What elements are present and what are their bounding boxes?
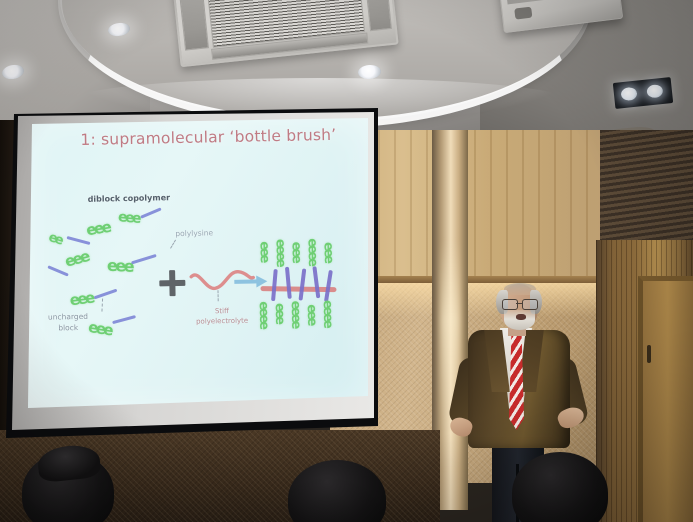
brush-arm: eeee	[295, 301, 296, 327]
spot-light-1	[620, 87, 637, 102]
ac-vent-left	[178, 0, 209, 51]
glasses-bridge	[516, 303, 522, 304]
copolymer-coil: eee	[65, 256, 87, 262]
eyeglasses-icon	[502, 299, 537, 308]
copolymer-tail	[112, 315, 136, 324]
charged-block	[324, 270, 333, 302]
presentation-slide: 1: supramolecular ‘bottle brush’ diblock…	[28, 118, 368, 408]
charged-block	[299, 268, 307, 300]
label-diblock-copolymer: diblock copolymer	[88, 193, 171, 204]
copolymer-coil: eee	[88, 327, 111, 331]
ac-vent-right	[363, 0, 392, 31]
presenter-striped-tie	[509, 334, 524, 430]
pointer-stiff-polyelectrolyte	[217, 290, 218, 301]
copolymer-coil: eee	[118, 217, 139, 219]
bottle-brush-complex: eee eeee eee eeee eee eeee eee eeee eee …	[255, 238, 349, 360]
copolymer-coil: eee	[70, 298, 93, 301]
copolymer-tail	[140, 207, 161, 218]
wall-slat-band	[600, 130, 693, 250]
charged-block	[312, 266, 320, 298]
glasses-lens-left	[502, 299, 518, 310]
plus-sign-icon	[159, 270, 186, 297]
brush-arm: eeee	[263, 301, 264, 327]
presenter-mouth	[516, 314, 526, 320]
slide-content: 1: supramolecular ‘bottle brush’ diblock…	[28, 111, 374, 408]
copolymer-tail	[94, 289, 118, 300]
door[interactable]	[638, 276, 693, 522]
label-uncharged-block-line1: uncharged	[40, 311, 96, 323]
copolymer-coil: ee	[49, 238, 61, 242]
copolymer-coil: eee	[86, 227, 109, 231]
projector-lens	[514, 7, 532, 20]
label-stiff-polyelectrolyte: Stiff polyelectrolyte	[191, 306, 253, 327]
spot-light-2	[646, 84, 663, 99]
brush-arm: eeee	[279, 239, 280, 265]
slide-title: 1: supramolecular ‘bottle brush’	[80, 126, 336, 149]
door-handle-icon[interactable]	[647, 345, 651, 363]
lecture-room-photo: 1: supramolecular ‘bottle brush’ diblock…	[0, 0, 693, 522]
copolymer-tail	[131, 254, 157, 265]
pointer-polylysine	[170, 240, 176, 249]
presenter-beard	[504, 310, 535, 330]
glasses-lens-right	[522, 299, 538, 310]
projector-body-stripe	[507, 0, 611, 4]
charged-block	[285, 267, 292, 299]
label-stiff-line2: polyelectrolyte	[191, 316, 253, 327]
arrow-shaft	[234, 279, 258, 283]
copolymer-coil: eee	[107, 266, 132, 267]
pointer-uncharged-block	[101, 299, 103, 312]
brush-arm: eeee	[327, 300, 328, 326]
brush-arm: eeee	[311, 238, 312, 264]
charged-block	[271, 269, 278, 301]
label-polylysine: polylysine	[175, 228, 213, 238]
